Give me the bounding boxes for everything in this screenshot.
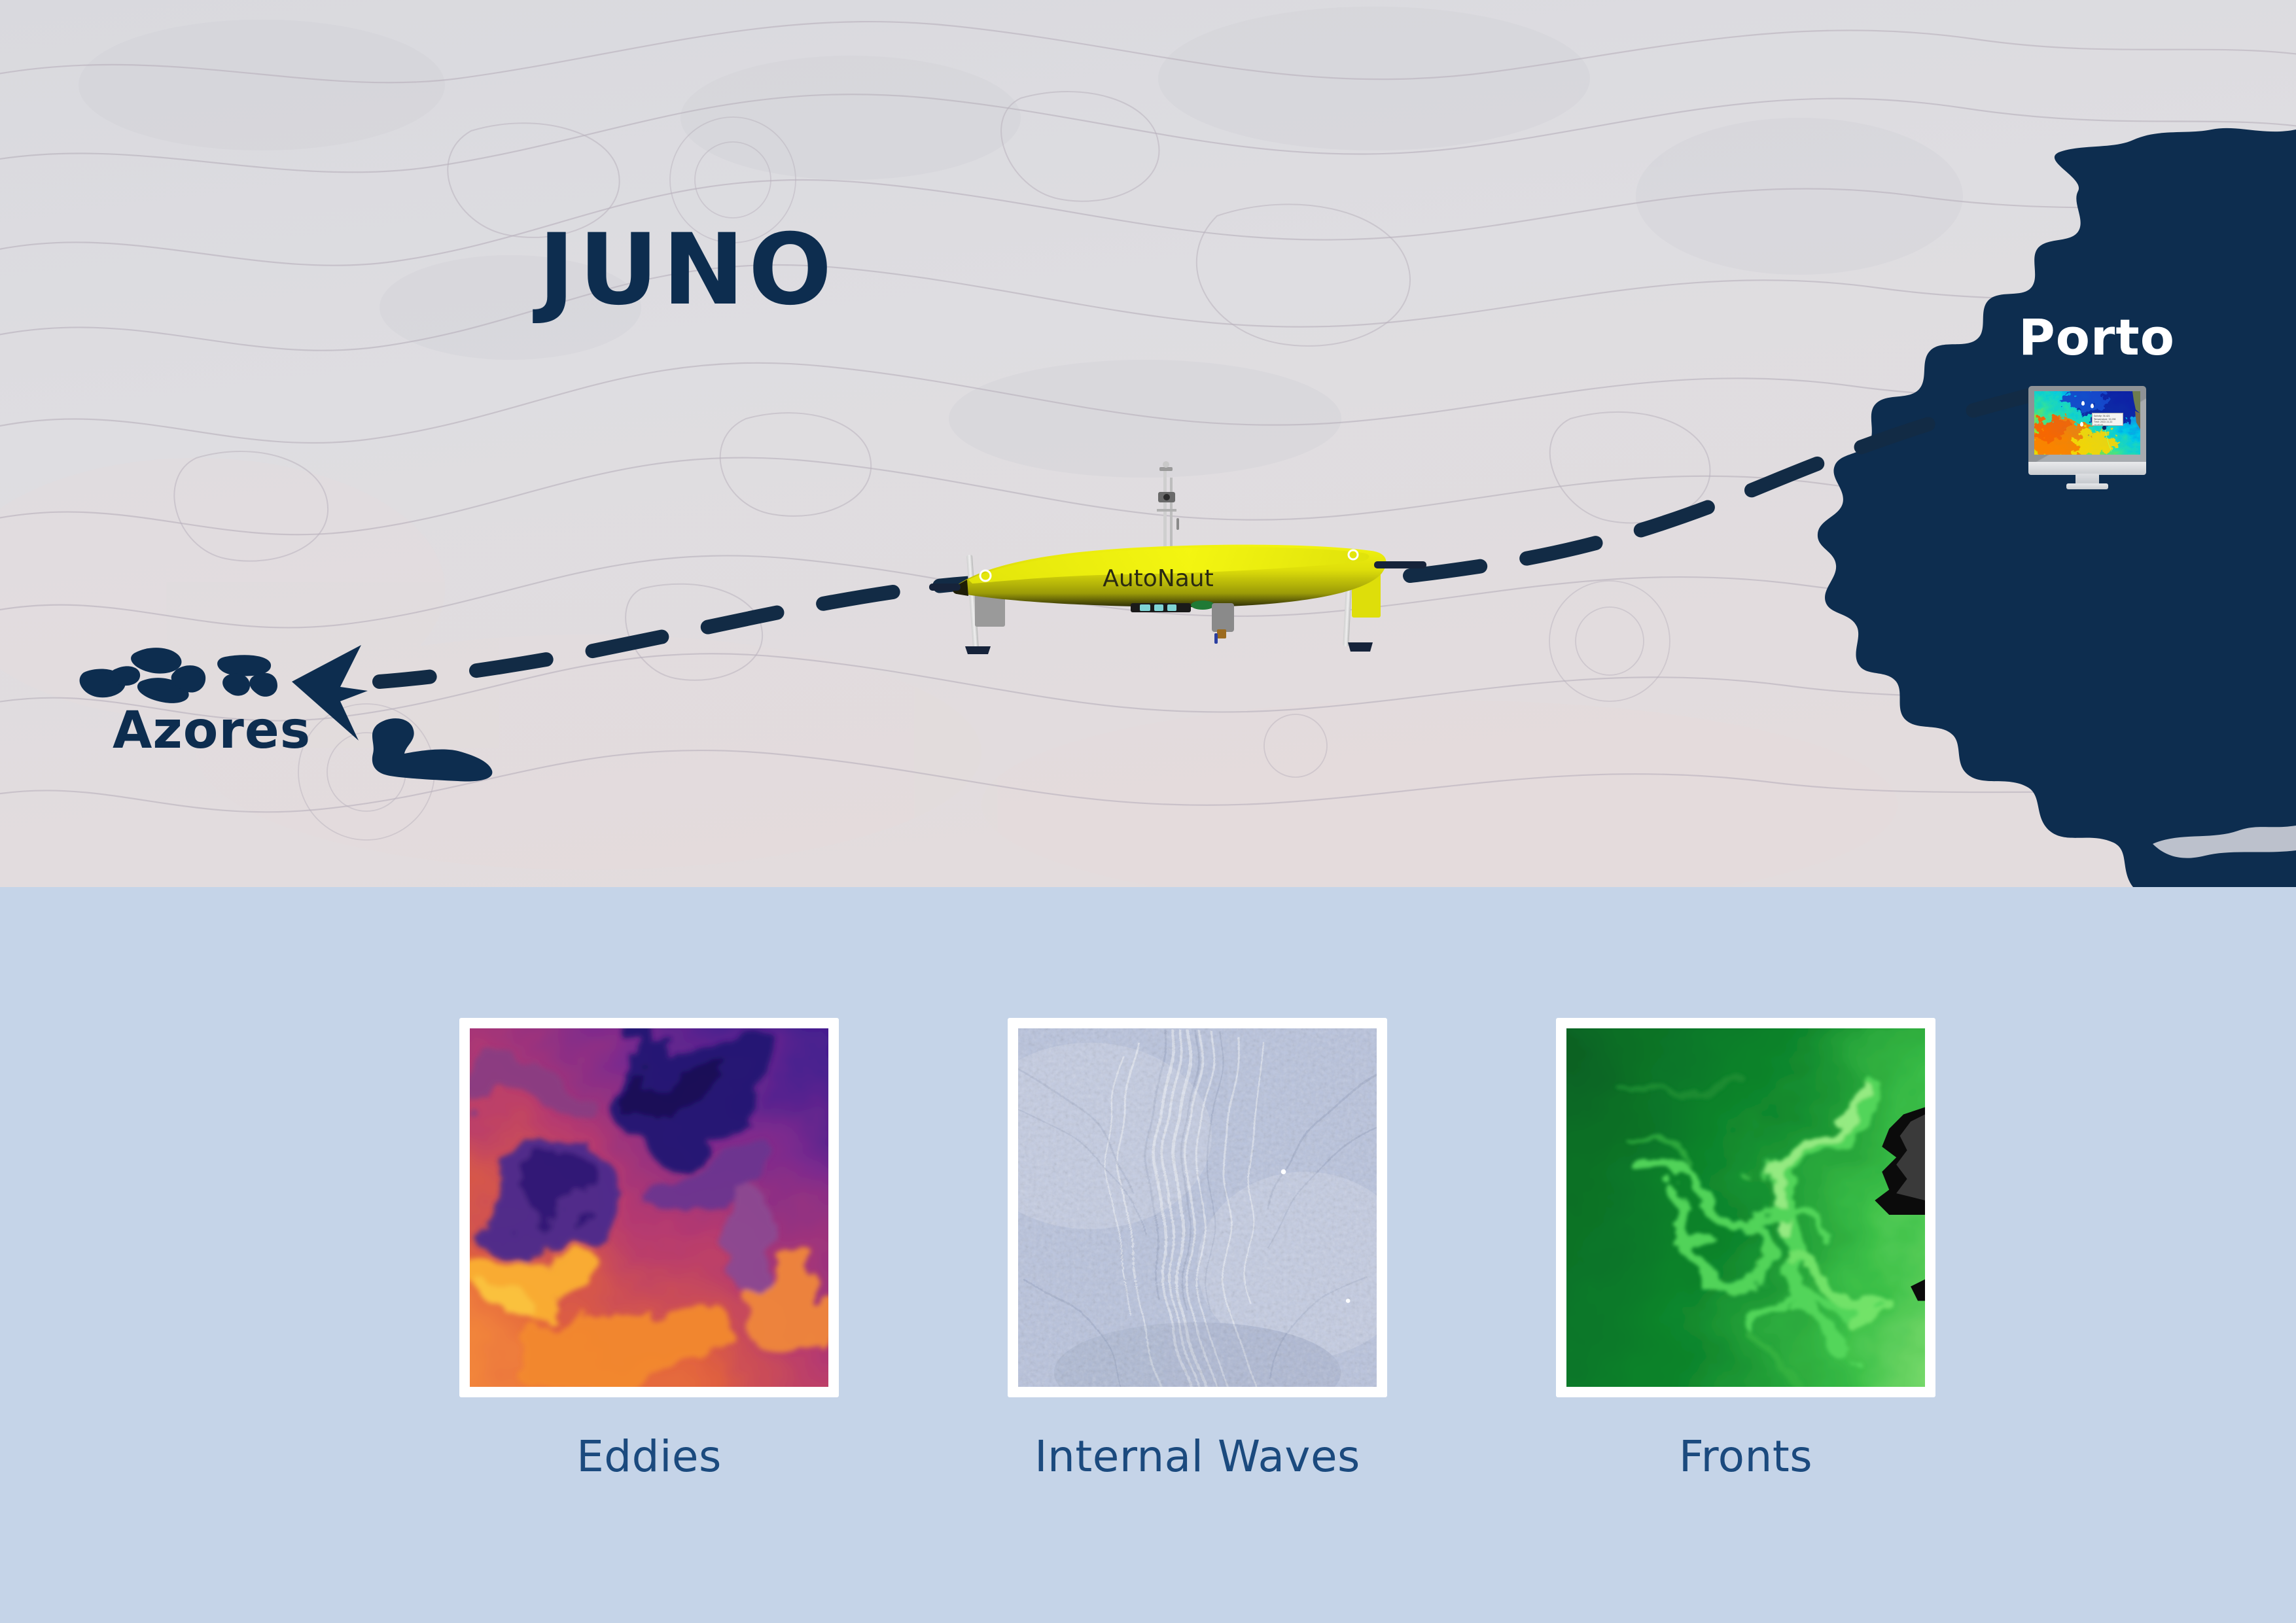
bathymetry-contour-background bbox=[0, 0, 2296, 887]
monitor-screen: Salinity: 34.421 Temperature: 15.036 Tim… bbox=[2034, 391, 2140, 455]
vessel-green-sensor bbox=[1191, 601, 1214, 610]
fronts-thumbnail bbox=[1566, 1028, 1925, 1387]
porto-monitor: Salinity: 34.421 Temperature: 15.036 Tim… bbox=[2028, 386, 2146, 491]
thumbnail-caption-internal-waves: Internal Waves bbox=[1008, 1431, 1387, 1482]
autonaut-usv-vessel: AutoNaut bbox=[929, 458, 1426, 654]
monitor-tooltip: Salinity: 34.421 Temperature: 15.036 Tim… bbox=[2092, 413, 2123, 426]
page-title: JUNO bbox=[0, 221, 1374, 319]
feature-gallery-panel: Eddies bbox=[0, 887, 2296, 1623]
vessel-stern-pole bbox=[1374, 561, 1426, 568]
azores-label: Azores bbox=[113, 705, 311, 756]
thumbnail-frame bbox=[1556, 1018, 1935, 1397]
tooltip-line-time: Time: 2022-11-22 10:40:00 bbox=[2094, 421, 2121, 426]
monitor-foot bbox=[2066, 483, 2108, 489]
porto-label: Porto bbox=[2019, 313, 2175, 362]
vessel-bow-pole bbox=[929, 584, 961, 591]
thumbnail-card-fronts[interactable]: Fronts bbox=[1556, 1018, 1935, 1482]
thumbnail-caption-fronts: Fronts bbox=[1556, 1431, 1935, 1482]
monitor-base bbox=[2028, 462, 2146, 475]
thumbnail-row: Eddies bbox=[0, 887, 2296, 1623]
map-pin bbox=[2081, 401, 2085, 406]
eddies-thumbnail bbox=[470, 1028, 828, 1387]
vessel-wordmark: AutoNaut bbox=[1103, 565, 1214, 592]
internal-waves-thumbnail bbox=[1018, 1028, 1377, 1387]
map-section: JUNO Azores Porto bbox=[0, 0, 2296, 887]
thumbnail-card-internal-waves[interactable]: Internal Waves bbox=[1008, 1018, 1387, 1482]
map-pin bbox=[2080, 422, 2083, 427]
juno-mission-overview: JUNO Azores Porto bbox=[0, 0, 2296, 1623]
thumbnail-frame bbox=[1008, 1018, 1387, 1397]
thumbnail-caption-eddies: Eddies bbox=[459, 1431, 839, 1482]
vessel-sensor-pod bbox=[1131, 603, 1191, 612]
vessel-ctd-sensor bbox=[1212, 603, 1234, 644]
thumbnail-frame bbox=[459, 1018, 839, 1397]
vessel-mast bbox=[1157, 461, 1179, 553]
thumbnail-card-eddies[interactable]: Eddies bbox=[459, 1018, 839, 1482]
map-pin bbox=[2091, 404, 2094, 408]
